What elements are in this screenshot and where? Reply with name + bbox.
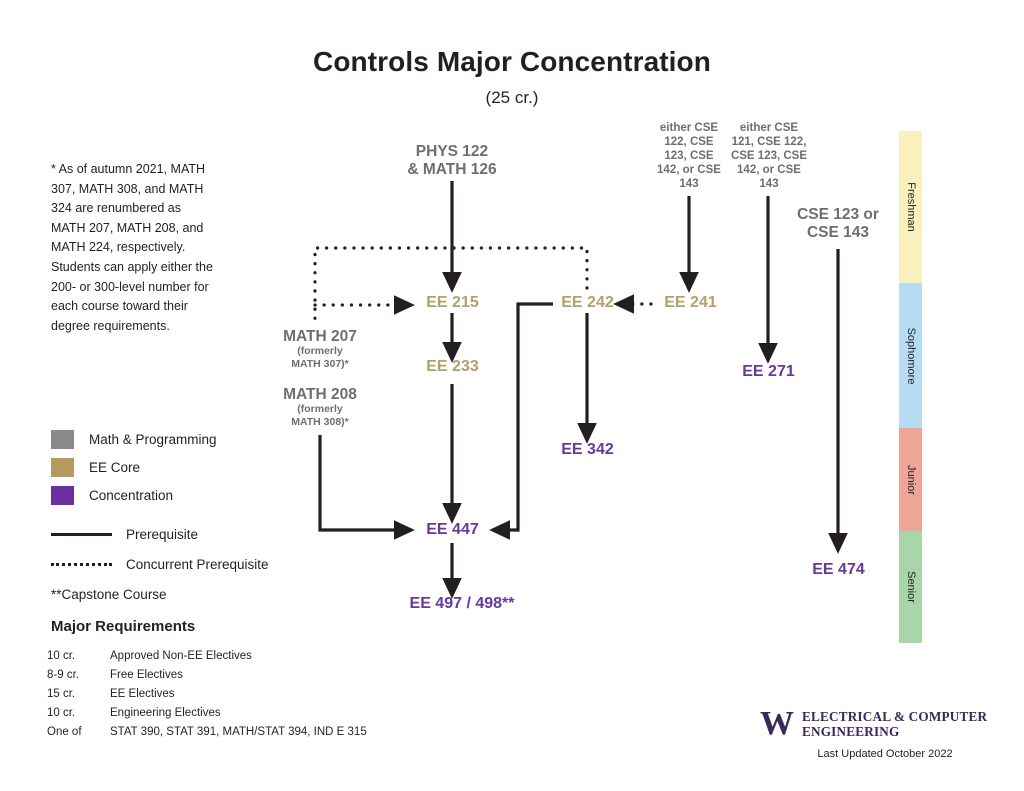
- requirement-credits: 10 cr.: [47, 707, 110, 719]
- requirement-text: STAT 390, STAT 391, MATH/STAT 394, IND E…: [110, 726, 447, 738]
- node-ee215[interactable]: EE 215: [405, 294, 500, 313]
- dotted-line-icon: [51, 563, 112, 566]
- legend-item-ee-core: EE Core: [51, 453, 281, 481]
- legend: Math & Programming EE Core Concentration…: [51, 425, 281, 602]
- requirement-text: Approved Non-EE Electives: [110, 650, 447, 662]
- uw-w-icon: W: [760, 707, 793, 741]
- requirement-credits: 8-9 cr.: [47, 669, 110, 681]
- node-math208[interactable]: MATH 208: [253, 386, 387, 404]
- year-label-junior: Junior: [905, 465, 917, 495]
- requirement-text: Engineering Electives: [110, 707, 447, 719]
- edge-ee242-to-ee447: [500, 304, 553, 530]
- requirement-text: Free Electives: [110, 669, 447, 681]
- node-phys122-math126[interactable]: PHYS 122 & MATH 126: [382, 143, 522, 180]
- year-segment-sophomore: Sophomore: [899, 283, 922, 428]
- node-math207-sublabel: (formerly MATH 307)*: [253, 345, 387, 370]
- requirement-credits: One of: [47, 726, 110, 738]
- legend-capstone-note: **Capstone Course: [51, 587, 281, 602]
- requirement-row: 10 cr. Engineering Electives: [47, 703, 447, 722]
- legend-item-concentration: Concentration: [51, 481, 281, 509]
- node-math207[interactable]: MATH 207: [253, 328, 387, 346]
- node-ee271[interactable]: EE 271: [721, 363, 816, 382]
- legend-label-ee-core: EE Core: [89, 460, 140, 475]
- requirements-title: Major Requirements: [51, 618, 195, 635]
- renumbering-footnote: * As of autumn 2021, MATH 307, MATH 308,…: [51, 160, 216, 336]
- legend-swatch-ee-core: [51, 458, 74, 477]
- legend-label-prerequisite: Prerequisite: [126, 527, 198, 542]
- last-updated-text: Last Updated October 2022: [760, 748, 990, 760]
- node-cse-123-or-143[interactable]: CSE 123 or CSE 143: [778, 206, 898, 243]
- legend-label-math-programming: Math & Programming: [89, 432, 217, 447]
- legend-swatch-concentration: [51, 486, 74, 505]
- year-segment-junior: Junior: [899, 428, 922, 531]
- year-label-senior: Senior: [905, 571, 917, 603]
- node-ee474[interactable]: EE 474: [791, 561, 886, 580]
- legend-item-concurrent-prerequisite: Concurrent Prerequisite: [51, 549, 281, 579]
- solid-line-icon: [51, 533, 112, 536]
- edge-math208-to-ee447: [320, 435, 404, 530]
- page-title: Controls Major Concentration: [0, 46, 1024, 78]
- node-ee241[interactable]: EE 241: [643, 294, 738, 313]
- node-ee497-498[interactable]: EE 497 / 498**: [377, 595, 547, 614]
- legend-label-concurrent-prerequisite: Concurrent Prerequisite: [126, 557, 269, 572]
- org-name: ELECTRICAL & COMPUTER ENGINEERING: [802, 709, 987, 739]
- year-segment-freshman: Freshman: [899, 131, 922, 283]
- uw-ece-logo: W ELECTRICAL & COMPUTER ENGINEERING Last…: [760, 707, 990, 760]
- requirement-credits: 15 cr.: [47, 688, 110, 700]
- legend-label-concentration: Concentration: [89, 488, 173, 503]
- requirement-text: EE Electives: [110, 688, 447, 700]
- year-label-freshman: Freshman: [905, 182, 917, 232]
- page-subtitle: (25 cr.): [0, 88, 1024, 108]
- node-ee342[interactable]: EE 342: [540, 441, 635, 460]
- node-ee233[interactable]: EE 233: [405, 358, 500, 377]
- diagram-canvas: Controls Major Concentration (25 cr.) * …: [0, 0, 1024, 791]
- legend-item-prerequisite: Prerequisite: [51, 519, 281, 549]
- requirement-credits: 10 cr.: [47, 650, 110, 662]
- node-cse-group-1[interactable]: either CSE 122, CSE 123, CSE 142, or CSE…: [650, 121, 728, 191]
- requirement-row: One of STAT 390, STAT 391, MATH/STAT 394…: [47, 722, 447, 741]
- requirement-row: 10 cr. Approved Non-EE Electives: [47, 646, 447, 665]
- logo-row: W ELECTRICAL & COMPUTER ENGINEERING: [760, 707, 990, 741]
- node-ee447[interactable]: EE 447: [405, 521, 500, 540]
- requirement-row: 15 cr. EE Electives: [47, 684, 447, 703]
- year-label-sophomore: Sophomore: [905, 327, 917, 384]
- legend-swatch-math-programming: [51, 430, 74, 449]
- node-ee242[interactable]: EE 242: [540, 294, 635, 313]
- requirements-list: 10 cr. Approved Non-EE Electives 8-9 cr.…: [47, 646, 447, 741]
- requirement-row: 8-9 cr. Free Electives: [47, 665, 447, 684]
- node-cse-group-2[interactable]: either CSE 121, CSE 122, CSE 123, CSE 14…: [726, 121, 812, 191]
- legend-item-math-programming: Math & Programming: [51, 425, 281, 453]
- year-level-bar: Freshman Sophomore Junior Senior: [899, 131, 922, 643]
- year-segment-senior: Senior: [899, 531, 922, 643]
- edge-ee242-concurrent-path: [315, 248, 587, 327]
